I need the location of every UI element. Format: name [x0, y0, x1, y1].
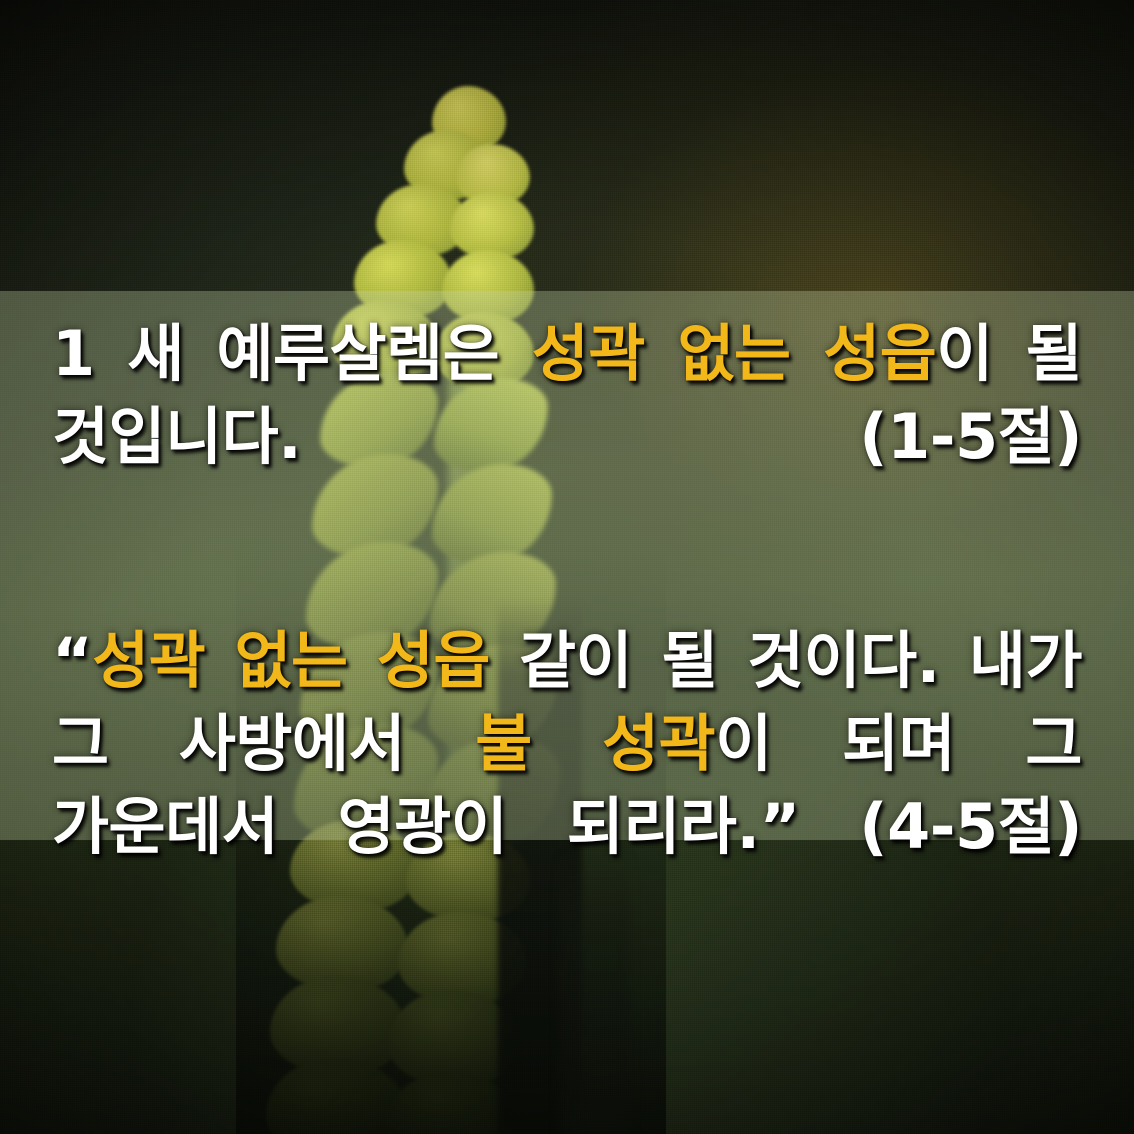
- summary-text-lead: 1 새 예루살렘은: [52, 317, 532, 390]
- quote-highlight-1: 성곽 없는 성읍: [92, 624, 490, 697]
- verse-text-block: 1 새 예루살렘은 성곽 없는 성읍이 될 것입니다. (1-5절) “성곽 없…: [52, 312, 1082, 952]
- verse-slide: 1 새 예루살렘은 성곽 없는 성읍이 될 것입니다. (1-5절) “성곽 없…: [0, 0, 1134, 1134]
- verse-paragraph-summary: 1 새 예루살렘은 성곽 없는 성읍이 될 것입니다. (1-5절): [52, 312, 1082, 561]
- verse-paragraph-quote: “성곽 없는 성읍 같이 될 것이다. 내가 그 사방에서 불 성곽이 되며 그…: [52, 619, 1082, 951]
- quote-highlight-2: 불 성곽: [475, 707, 715, 780]
- summary-highlight: 성곽 없는 성읍: [532, 317, 937, 390]
- quote-open-mark: “: [52, 624, 92, 697]
